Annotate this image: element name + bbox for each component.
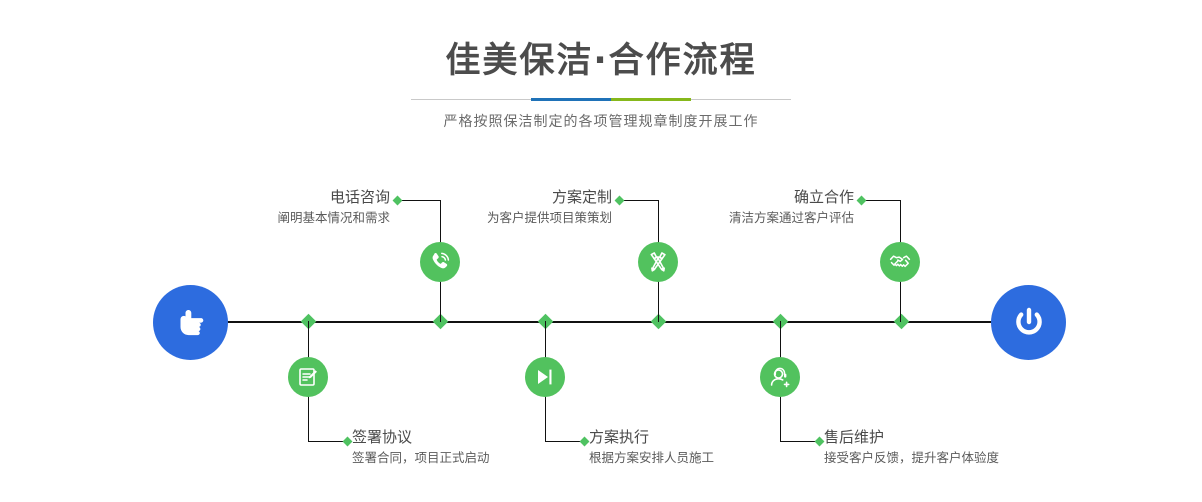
step-icon-5 [760, 357, 800, 397]
step-desc-1: 签署合同，项目正式启动 [352, 449, 612, 467]
step-label-6: 确立合作 清洁方案通过客户评估 [620, 188, 854, 227]
connector-tip-step-1 [343, 437, 353, 447]
customer-support-icon [768, 365, 792, 389]
step-icon-3 [525, 357, 565, 397]
step-desc-5: 接受客户反馈，提升客户体验度 [824, 449, 1104, 467]
step-title-2: 电话咨询 [155, 188, 390, 206]
timeline-end-badge [991, 285, 1066, 360]
document-sign-icon [296, 365, 320, 389]
connector-elbow-step-5 [780, 441, 818, 442]
step-title-4: 方案定制 [380, 188, 612, 206]
step-desc-2: 阐明基本情况和需求 [155, 209, 390, 227]
connector-elbow-step-3 [545, 441, 583, 442]
infographic-canvas: 佳美保洁·合作流程 严格按照保洁制定的各项管理规章制度开展工作 [0, 0, 1202, 502]
step-title-5: 售后维护 [824, 428, 1104, 446]
pencil-ruler-icon [646, 250, 670, 274]
step-icon-4 [638, 242, 678, 282]
play-execute-icon [533, 365, 557, 389]
step-label-5: 售后维护 接受客户反馈，提升客户体验度 [824, 428, 1104, 467]
page-title: 佳美保洁·合作流程 [0, 40, 1202, 82]
handshake-icon [888, 250, 912, 274]
header: 佳美保洁·合作流程 严格按照保洁制定的各项管理规章制度开展工作 [0, 0, 1202, 131]
step-label-2: 电话咨询 阐明基本情况和需求 [155, 188, 390, 227]
connector-tip-step-6 [857, 196, 867, 206]
timeline-start-badge [153, 285, 228, 360]
step-label-3: 方案执行 根据方案安排人员施工 [589, 428, 849, 467]
step-title-3: 方案执行 [589, 428, 849, 446]
connector-elbow-step-1 [308, 441, 346, 442]
connector-elbow-step-6 [862, 200, 900, 201]
timeline-node-marker [894, 314, 910, 330]
step-icon-6 [880, 242, 920, 282]
title-divider [411, 98, 791, 101]
step-title-6: 确立合作 [620, 188, 854, 206]
divider-green-segment [611, 98, 691, 101]
power-icon [1008, 302, 1050, 344]
step-desc-4: 为客户提供项目策策划 [380, 209, 612, 227]
step-desc-3: 根据方案安排人员施工 [589, 449, 849, 467]
divider-blue-segment [531, 98, 611, 101]
step-desc-6: 清洁方案通过客户评估 [620, 209, 854, 227]
step-label-1: 签署协议 签署合同，项目正式启动 [352, 428, 612, 467]
step-label-4: 方案定制 为客户提供项目策策划 [380, 188, 612, 227]
pointing-hand-icon [170, 302, 212, 344]
page-subtitle: 严格按照保洁制定的各项管理规章制度开展工作 [0, 111, 1202, 131]
step-title-1: 签署协议 [352, 428, 612, 446]
step-icon-1 [288, 357, 328, 397]
phone-call-icon [428, 250, 452, 274]
step-icon-2 [420, 242, 460, 282]
